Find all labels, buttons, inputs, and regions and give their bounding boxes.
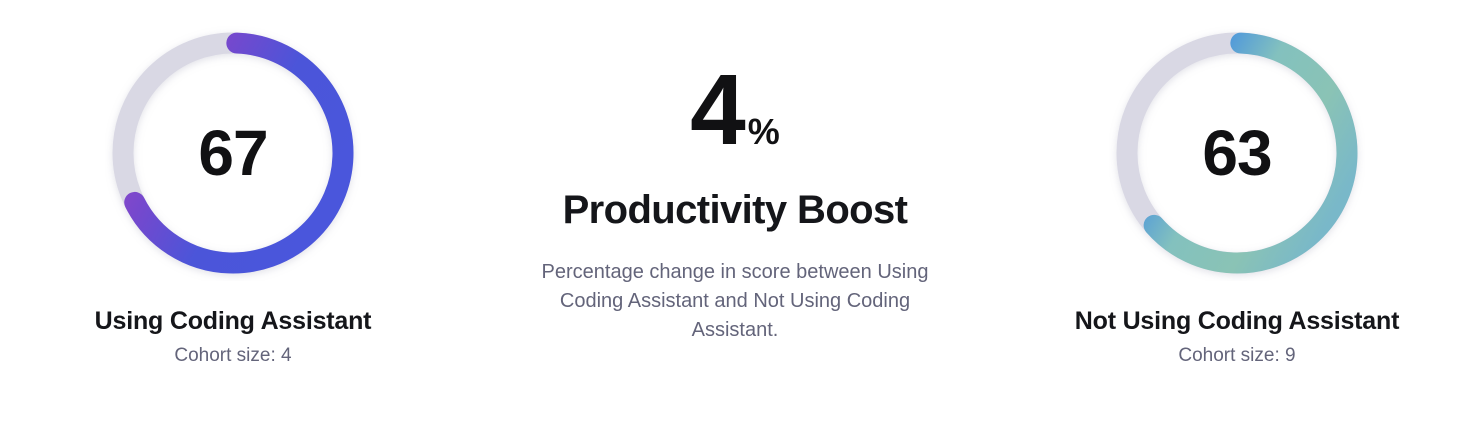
gauge-left-cohort-size: Cohort size: 4 <box>174 345 291 368</box>
gauge-using-coding-assistant: 67 <box>105 25 361 281</box>
gauge-panel-not-using-coding-assistant: 63 Not Using Coding Assistant Cohort siz… <box>1004 0 1470 368</box>
gauge-panel-using-coding-assistant: 67 Using Coding Assistant Cohort size: 4 <box>0 0 466 368</box>
delta-number: 4 <box>690 60 744 160</box>
delta-figure: 4 % <box>690 60 780 160</box>
summary-description: Percentage change in score between Using… <box>535 258 935 345</box>
gauge-right-title: Not Using Coding Assistant <box>1075 307 1399 336</box>
productivity-boost-summary: 4 % Productivity Boost Percentage change… <box>500 60 970 345</box>
gauge-right-value: 63 <box>1109 25 1365 281</box>
gauge-right-cohort-size: Cohort size: 9 <box>1178 345 1295 368</box>
gauge-left-title: Using Coding Assistant <box>95 307 372 336</box>
delta-percent-sign: % <box>748 114 780 150</box>
gauge-not-using-coding-assistant: 63 <box>1109 25 1365 281</box>
gauge-left-value: 67 <box>105 25 361 281</box>
productivity-comparison-board: 67 Using Coding Assistant Cohort size: 4… <box>0 0 1474 426</box>
summary-heading: Productivity Boost <box>563 188 908 232</box>
